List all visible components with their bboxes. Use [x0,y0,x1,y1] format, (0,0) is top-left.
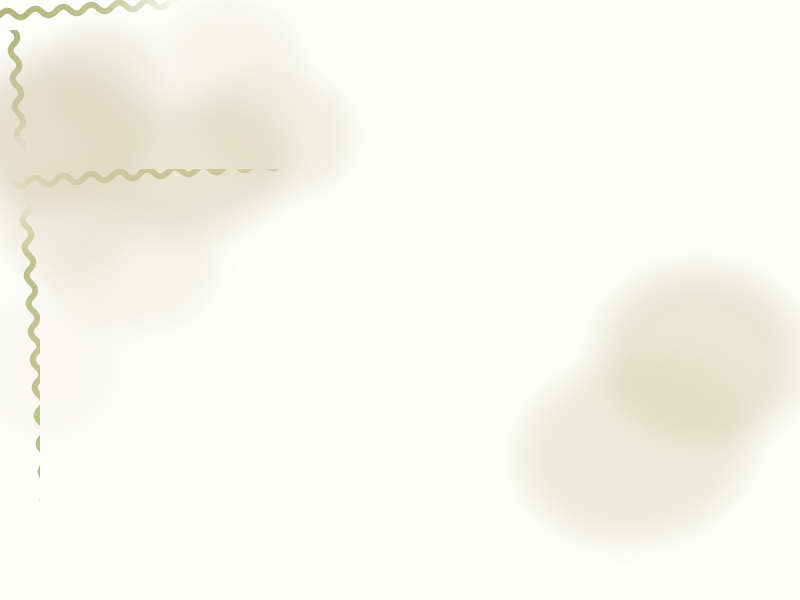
left-wavy-rule-icon [0,30,800,169]
top-wavy-rule-icon [0,0,800,30]
bottom-wavy-rule-icon [0,169,800,199]
right-wavy-rule-icon [0,199,800,600]
presentation-slide: 第八章 行为的有效性 第一节 有效的信息沟通 第二节 对组织变革的有效管理 第三… [0,0,800,600]
